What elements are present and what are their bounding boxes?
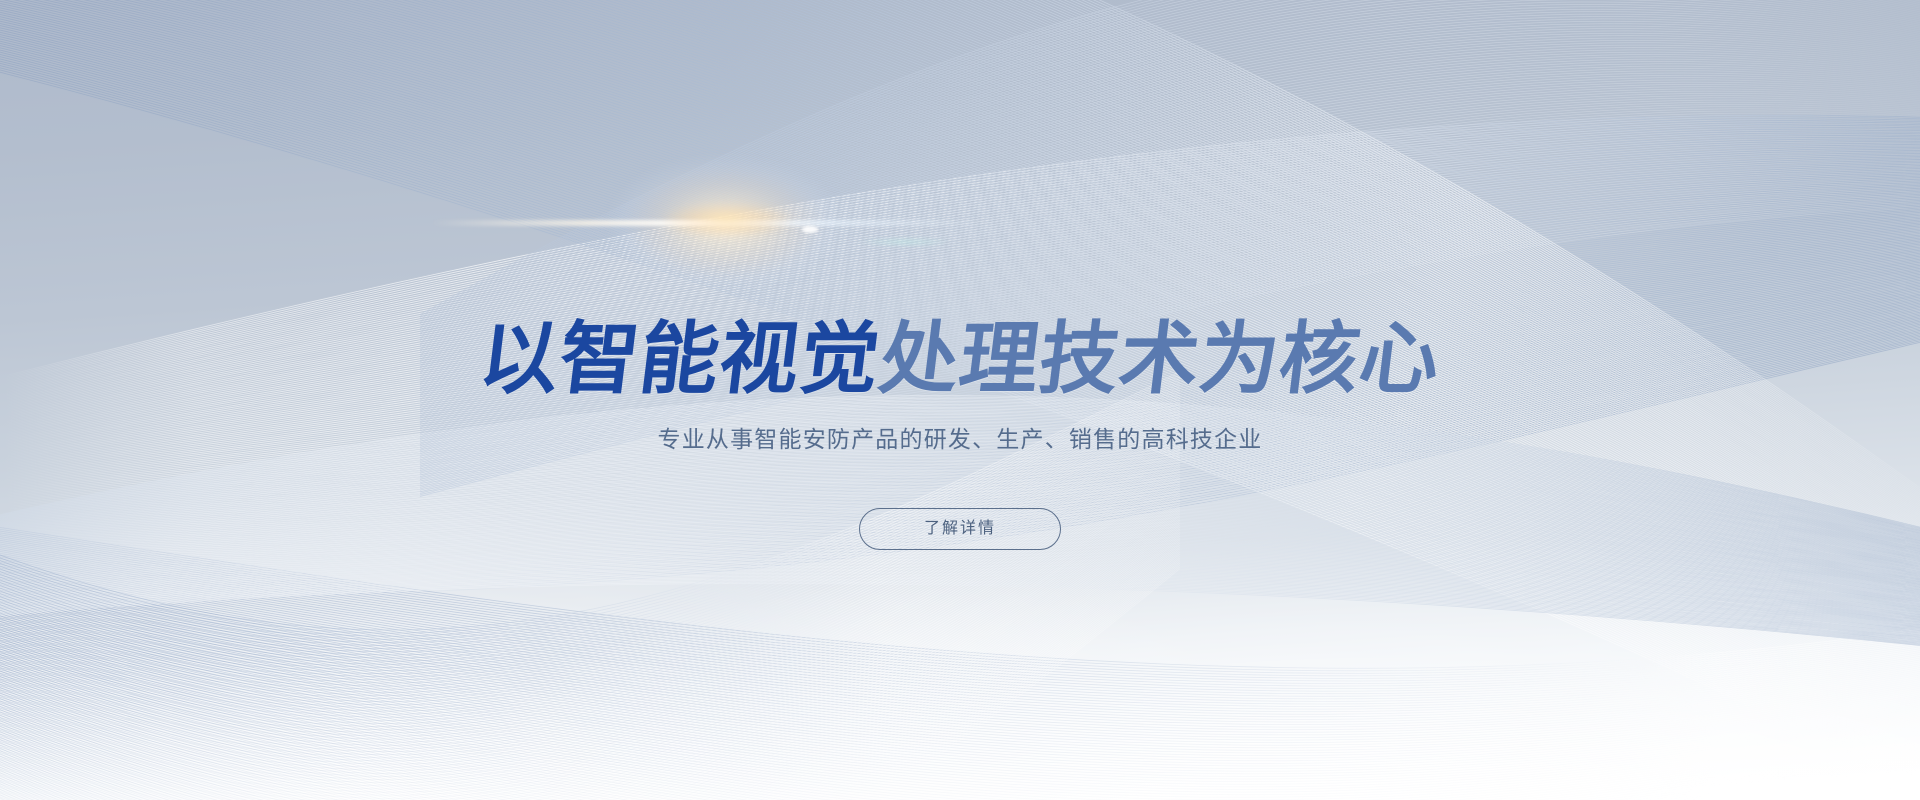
- learn-more-button[interactable]: 了解详情: [859, 508, 1061, 550]
- headline-highlight: 以智能视觉: [475, 315, 886, 403]
- hero-banner: 以智能视觉处理技术为核心 专业从事智能安防产品的研发、生产、销售的高科技企业 了…: [0, 0, 1920, 800]
- page-title: 以智能视觉处理技术为核心: [0, 315, 1920, 403]
- headline-rest: 处理技术为核心: [875, 315, 1446, 403]
- hero-subtitle: 专业从事智能安防产品的研发、生产、销售的高科技企业: [0, 422, 1920, 456]
- hero-content: 以智能视觉处理技术为核心 专业从事智能安防产品的研发、生产、销售的高科技企业 了…: [0, 0, 1920, 800]
- cta-container: 了解详情: [0, 508, 1920, 550]
